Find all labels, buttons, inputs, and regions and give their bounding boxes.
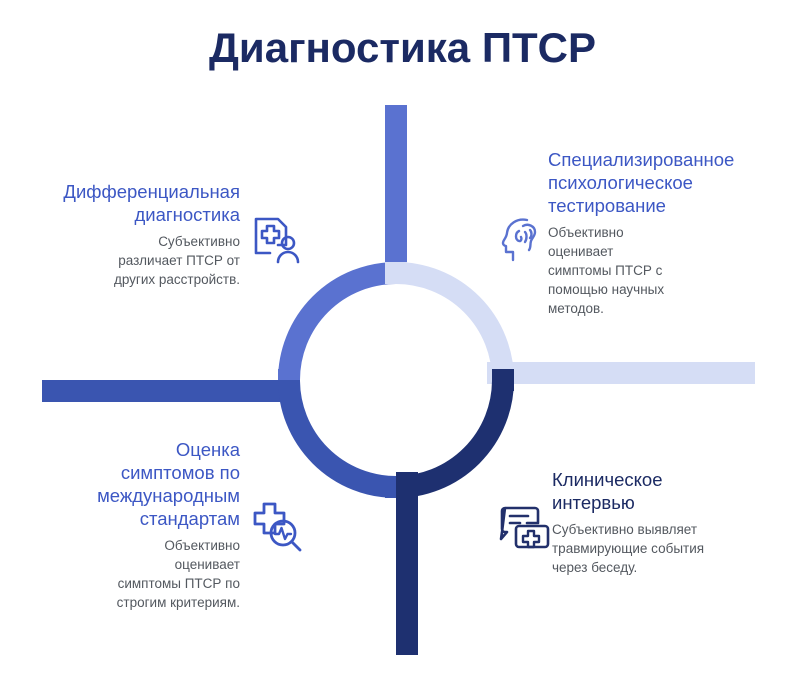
head-brain-icon (497, 214, 549, 266)
section-body: Субъективно выявляет травмирующие событи… (552, 520, 778, 577)
section-international-standards: Оценка симптомов по международным станда… (44, 438, 240, 612)
arc-bottom-left-tail (42, 380, 300, 402)
document-person-icon (250, 214, 306, 270)
arc-top-left-curve (289, 273, 396, 380)
arc-bottom-left-cap (385, 476, 407, 498)
speech-bubble-cross-icon (497, 502, 551, 556)
section-heading: Оценка симптомов по международным станда… (44, 438, 240, 530)
section-heading: Специализированное психологическое тести… (548, 148, 778, 217)
arc-bottom-right-cap (492, 369, 514, 391)
arc-bottom-right-curve (396, 380, 503, 487)
arc-top-right-cap (385, 262, 407, 284)
cross-magnifier-icon (250, 500, 306, 556)
section-differential-diagnosis: Дифференциальная диагностика Субъективно… (18, 180, 240, 289)
section-heading: Дифференциальная диагностика (18, 180, 240, 226)
section-clinical-interview: Клиническое интервью Субъективно выявляе… (552, 468, 778, 577)
arc-bottom-right-tail (396, 472, 418, 655)
section-specialized-testing: Специализированное психологическое тести… (548, 148, 778, 318)
section-body: Объективно оценивает симптомы ПТСР по ст… (44, 536, 240, 612)
arc-top-right-curve (396, 273, 503, 380)
section-heading: Клиническое интервью (552, 468, 778, 514)
page-title: Диагностика ПТСР (0, 24, 805, 72)
arc-top-left-tail (385, 105, 407, 284)
arc-top-left-cap (278, 369, 300, 391)
section-body: Объективно оценивает симптомы ПТСР с пом… (548, 223, 778, 318)
section-body: Субъективно различает ПТСР от других рас… (18, 232, 240, 289)
arc-bottom-left-curve (289, 380, 396, 487)
infographic-canvas: Диагностика ПТСР Дифференциаль (0, 0, 805, 685)
arc-top-right-tail (487, 362, 755, 384)
